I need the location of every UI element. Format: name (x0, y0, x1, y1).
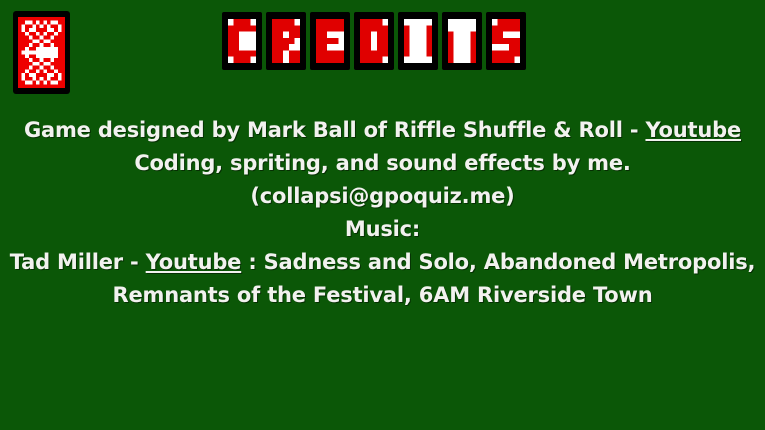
title-letter-s-6 (486, 12, 526, 70)
credit-line-music-credit-1: Tad Miller - Youtube : Sadness and Solo,… (0, 246, 765, 279)
credits-title (222, 12, 526, 74)
credit-line-music-credit-2: Remnants of the Festival, 6AM Riverside … (0, 279, 765, 312)
link-youtube[interactable]: Youtube (146, 250, 242, 274)
credit-text-music-heading-0: Music: (345, 217, 420, 241)
credit-line-coding: Coding, spriting, and sound effects by m… (0, 147, 765, 180)
credit-text-email-0: (collapsi@gpoquiz.me) (250, 184, 514, 208)
credit-text-designer-0: Game designed by Mark Ball of Riffle Shu… (24, 118, 645, 142)
credit-text-music-credit-1-2: : Sadness and Solo, Abandoned Metropolis… (241, 250, 755, 274)
credit-line-music-heading: Music: (0, 213, 765, 246)
credit-line-designer: Game designed by Mark Ball of Riffle Shu… (0, 114, 765, 147)
title-letter-r-1 (266, 12, 306, 70)
title-letter-e-2 (310, 12, 350, 70)
title-letter-c-0 (222, 12, 262, 70)
playing-card-logo (13, 11, 70, 94)
title-letter-i-4 (398, 12, 438, 70)
card-face (18, 17, 65, 88)
credit-text-music-credit-1-0: Tad Miller - (10, 250, 146, 274)
credit-text-coding-0: Coding, spriting, and sound effects by m… (134, 151, 630, 175)
credit-text-music-credit-2-0: Remnants of the Festival, 6AM Riverside … (113, 283, 653, 307)
title-letter-d-3 (354, 12, 394, 70)
credits-text-block: Game designed by Mark Ball of Riffle Shu… (0, 114, 765, 312)
title-letter-t-5 (442, 12, 482, 70)
credits-screen: Game designed by Mark Ball of Riffle Shu… (0, 0, 765, 430)
credit-line-email: (collapsi@gpoquiz.me) (0, 180, 765, 213)
card-pip-pattern (18, 17, 65, 88)
link-youtube[interactable]: Youtube (645, 118, 741, 142)
